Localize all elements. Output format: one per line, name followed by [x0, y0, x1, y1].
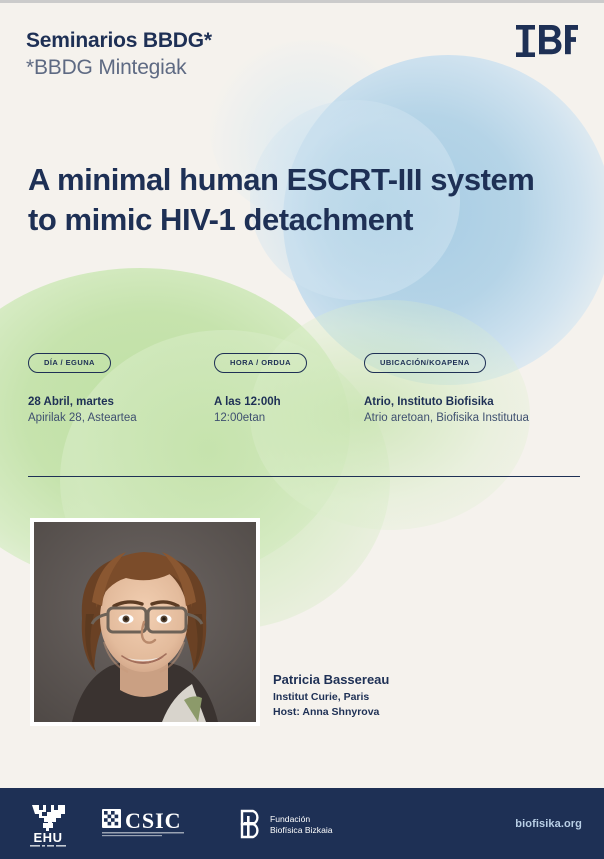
speaker-portrait — [34, 522, 256, 722]
svg-text:CSIC: CSIC — [125, 808, 182, 833]
title-line-2: to mimic HIV-1 detachment — [28, 200, 580, 240]
brand-block: Seminarios BBDG* *BBDG Mintegiak — [26, 28, 212, 80]
fundacion-label-2: Biofísica Bizkaia — [270, 825, 333, 835]
footer-logo-group: EHU — [22, 799, 343, 849]
poster-footer: EHU — [0, 788, 604, 859]
title-line-1: A minimal human ESCRT-III system — [28, 160, 580, 200]
event-details-row: DÍA / EGUNA 28 Abril, martes Apirilak 28… — [28, 352, 580, 427]
top-hairline — [0, 0, 604, 3]
date-pill-label: DÍA / EGUNA — [28, 353, 111, 373]
event-detail-location: UBICACIÓN/KOAPENA Atrio, Instituto Biofi… — [364, 352, 550, 427]
series-title: Seminarios BBDG* — [26, 28, 212, 54]
speaker-photo-frame — [30, 518, 260, 726]
fundacion-biofisica-bizkaia-logo: Fundación Biofísica Bizkaia — [238, 807, 343, 841]
date-value-es: 28 Abril, martes — [28, 394, 214, 411]
location-pill-label: UBICACIÓN/KOAPENA — [364, 353, 486, 373]
location-value-es: Atrio, Instituto Biofisika — [364, 394, 550, 411]
fundacion-label-1: Fundación — [270, 814, 310, 824]
speaker-host: Host: Anna Shnyrova — [273, 705, 389, 721]
speaker-name: Patricia Bassereau — [273, 670, 389, 690]
seminar-poster: Seminarios BBDG* *BBDG Mintegiak — [0, 0, 604, 859]
poster-header: Seminarios BBDG* *BBDG Mintegiak — [26, 28, 578, 80]
website-link[interactable]: biofisika.org — [515, 818, 582, 830]
location-value-eu: Atrio aretoan, Biofisika Institutua — [364, 410, 550, 427]
time-pill-label: HORA / ORDUA — [214, 353, 307, 373]
ibf-logo — [516, 25, 578, 57]
date-value-eu: Apirilak 28, Asteartea — [28, 410, 214, 427]
time-value-es: A las 12:00h — [214, 394, 364, 411]
time-value-eu: 12:00etan — [214, 410, 364, 427]
series-title-basque: *BBDG Mintegiak — [26, 55, 212, 81]
speaker-affiliation: Institut Curie, Paris — [273, 690, 389, 706]
svg-text:EHU: EHU — [34, 830, 63, 845]
speaker-info: Patricia Bassereau Institut Curie, Paris… — [273, 670, 389, 721]
ehu-logo: EHU — [22, 799, 74, 849]
event-detail-date: DÍA / EGUNA 28 Abril, martes Apirilak 28… — [28, 352, 214, 427]
section-divider — [28, 476, 580, 477]
csic-logo: CSIC — [102, 807, 210, 841]
event-detail-time: HORA / ORDUA A las 12:00h 12:00etan — [214, 352, 364, 427]
page-title: A minimal human ESCRT-III system to mimi… — [28, 160, 580, 241]
